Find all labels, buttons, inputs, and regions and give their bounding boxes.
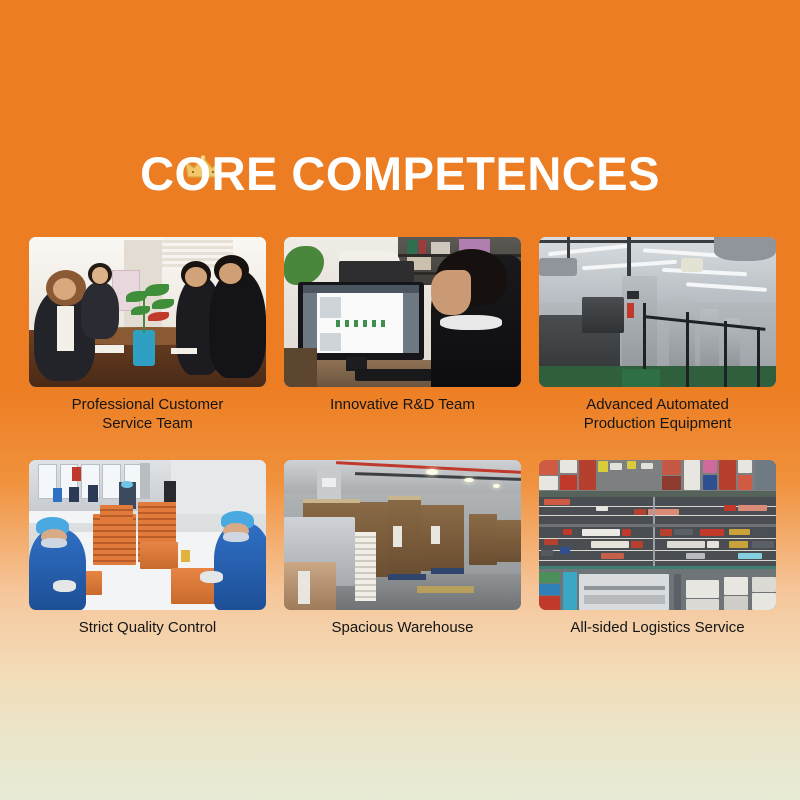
card-innovative-rd-team[interactable]: Innovative R&D Team — [284, 237, 521, 434]
caption-line-2: Service Team — [29, 415, 266, 434]
card-caption: Spacious Warehouse — [284, 619, 521, 638]
page-title: CORE COMPETENCES — [0, 150, 800, 197]
caption-line-1: All-sided Logistics Service — [539, 619, 776, 638]
thumbnail-warehouse[interactable] — [284, 460, 521, 610]
competences-grid: Professional Customer Service Team — [29, 237, 776, 637]
card-professional-customer-service-team[interactable]: Professional Customer Service Team — [29, 237, 266, 434]
card-strict-quality-control[interactable]: Strict Quality Control — [29, 460, 266, 638]
card-caption: Advanced Automated Production Equipment — [539, 396, 776, 434]
thumbnail-rd-team[interactable] — [284, 237, 521, 387]
competences-row-1: Professional Customer Service Team — [29, 237, 776, 434]
card-caption: Professional Customer Service Team — [29, 396, 266, 434]
caption-line-1: Professional Customer — [29, 396, 266, 415]
caption-line-1: Spacious Warehouse — [284, 619, 521, 638]
core-competences-banner: CORE COMPETENCES — [0, 0, 800, 800]
competences-row-2: Strict Quality Control — [29, 460, 776, 638]
thumbnail-meeting[interactable] — [29, 237, 266, 387]
card-advanced-automated-production-equipment[interactable]: Advanced Automated Production Equipment — [539, 237, 776, 434]
caption-line-1: Strict Quality Control — [29, 619, 266, 638]
caption-line-1: Innovative R&D Team — [284, 396, 521, 415]
card-all-sided-logistics-service[interactable]: All-sided Logistics Service — [539, 460, 776, 638]
thumbnail-logistics[interactable] — [539, 460, 776, 610]
card-caption: Innovative R&D Team — [284, 396, 521, 415]
thumbnail-printing-press[interactable] — [539, 237, 776, 387]
card-caption: Strict Quality Control — [29, 619, 266, 638]
caption-line-2: Production Equipment — [539, 415, 776, 434]
card-spacious-warehouse[interactable]: Spacious Warehouse — [284, 460, 521, 638]
card-caption: All-sided Logistics Service — [539, 619, 776, 638]
title-block: CORE COMPETENCES — [0, 150, 800, 197]
caption-line-1: Advanced Automated — [539, 396, 776, 415]
thumbnail-quality-control[interactable] — [29, 460, 266, 610]
